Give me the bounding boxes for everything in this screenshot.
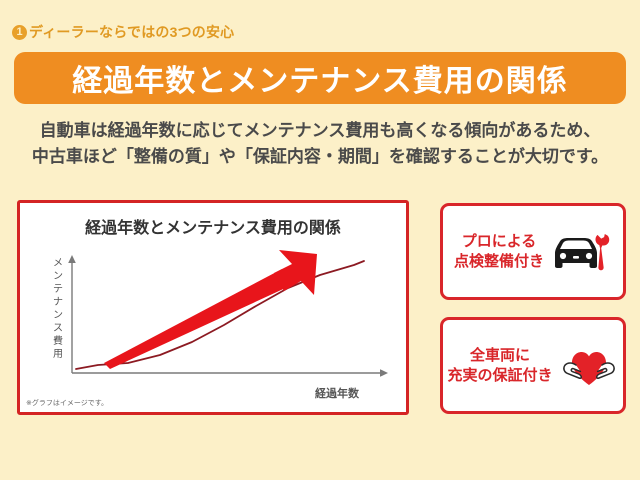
car-icon [550, 232, 612, 272]
feature-card-inspection-line-2: 点検整備付き [454, 252, 544, 272]
feature-card-warranty-line-2: 充実の保証付き [448, 366, 553, 386]
x-axis-arrowhead [380, 369, 388, 377]
chart-canvas [20, 203, 406, 412]
y-axis-arrowhead [68, 255, 76, 263]
section-banner: 経過年数とメンテナンス費用の関係 [14, 52, 626, 104]
heart-in-hands-icon [559, 344, 619, 388]
feature-card-warranty-text: 全車両に 充実の保証付き [448, 346, 553, 386]
feature-card-inspection: プロによる 点検整備付き [440, 203, 626, 300]
lead-paragraph: 自動車は経過年数に応じてメンテナンス費用も高くなる傾向があるため、 中古車ほど「… [0, 118, 640, 170]
feature-card-inspection-content: プロによる 点検整備付き [443, 206, 623, 297]
chart-panel: 経過年数とメンテナンス費用の関係 メンテナンス費用 経過年数 ※グラフはイメージ… [17, 200, 409, 415]
chart-trend-arrow [104, 250, 317, 369]
chart-x-axis-label: 経過年数 [315, 385, 359, 401]
chart-y-axis-label: メンテナンス費用 [50, 257, 66, 361]
eyebrow-label: ディーラーならではの3つの安心 [29, 22, 234, 42]
feature-card-inspection-line-1: プロによる [454, 232, 544, 252]
chart-footnote: ※グラフはイメージです。 [26, 398, 108, 408]
lead-line-1: 自動車は経過年数に応じてメンテナンス費用も高くなる傾向があるため、 [0, 118, 640, 144]
feature-card-inspection-text: プロによる 点検整備付き [454, 232, 544, 272]
banner-title: 経過年数とメンテナンス費用の関係 [72, 56, 567, 100]
feature-card-warranty-line-1: 全車両に [448, 346, 553, 366]
eyebrow: 1 ディーラーならではの3つの安心 [12, 22, 234, 42]
lead-line-2: 中古車ほど「整備の質」や「保証内容・期間」を確認することが大切です。 [0, 144, 640, 170]
feature-card-warranty-content: 全車両に 充実の保証付き [443, 320, 623, 411]
infographic-root: 1 ディーラーならではの3つの安心 経過年数とメンテナンス費用の関係 自動車は経… [0, 0, 640, 480]
eyebrow-number-badge: 1 [12, 25, 27, 40]
feature-card-warranty: 全車両に 充実の保証付き [440, 317, 626, 414]
